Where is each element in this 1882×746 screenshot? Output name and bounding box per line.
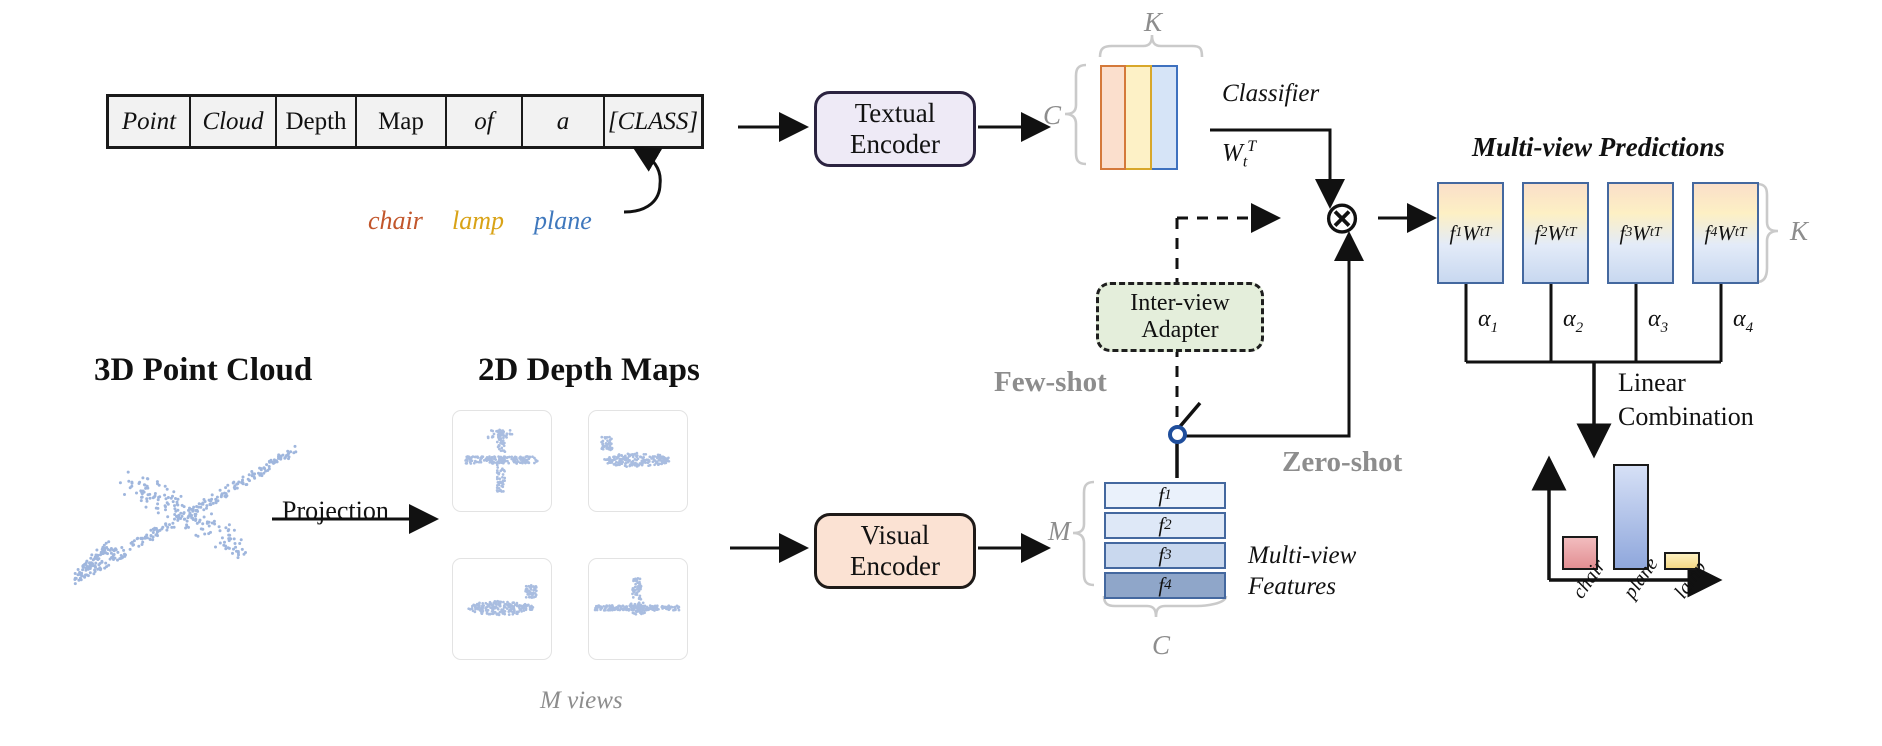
classifier-symbol-sub: t	[1243, 153, 1247, 170]
class-label-chair: chair	[368, 206, 423, 236]
class-label-lamp: lamp	[452, 206, 504, 236]
linear-combination-line2: Combination	[1618, 400, 1754, 434]
alpha-label-1: α1	[1478, 306, 1498, 337]
features-caption-line1: Multi-view	[1248, 540, 1356, 571]
linear-combination-line1: Linear	[1618, 366, 1754, 400]
classifier-column-chair	[1100, 65, 1126, 170]
projection-label: Projection	[282, 496, 389, 526]
visual-encoder-label-line1: Visual	[861, 520, 930, 551]
classifier-brace-k-label: K	[1144, 7, 1162, 38]
alpha-4-sym: α	[1733, 306, 1746, 332]
depth-map-tile-4[interactable]	[588, 558, 688, 660]
prediction-2-w: W	[1547, 221, 1565, 246]
feature-row-f4: f4	[1104, 572, 1226, 599]
feature-row-f1: f1	[1104, 482, 1226, 509]
feature-row-f2: f2	[1104, 512, 1226, 539]
class-label-plane: plane	[534, 206, 592, 236]
alpha-1-sym: α	[1478, 306, 1491, 332]
linear-combination-label: Linear Combination	[1618, 366, 1754, 434]
features-brace-c-label: C	[1152, 630, 1170, 661]
prediction-1-sub: 1	[1455, 225, 1462, 241]
prompt-cell-map: Map	[357, 97, 447, 146]
features-caption-line2: Features	[1248, 571, 1356, 602]
prediction-4-wsup: T	[1739, 225, 1747, 241]
few-shot-label: Few-shot	[994, 366, 1107, 399]
prediction-3-sub: 3	[1625, 225, 1632, 241]
prediction-box-3: f3WtT	[1607, 182, 1674, 284]
prompt-cell-cloud: Cloud	[191, 97, 277, 146]
prediction-4-sub: 4	[1710, 225, 1717, 241]
predictions-brace-k-label: K	[1790, 216, 1808, 247]
depth-map-tile-1[interactable]	[452, 410, 552, 512]
classifier-brace-c-label: C	[1043, 100, 1061, 131]
prompt-cell-class: [CLASS]	[605, 97, 701, 146]
tensor-product-icon: ⊗	[1318, 194, 1366, 242]
visual-encoder-block[interactable]: Visual Encoder	[814, 513, 976, 589]
alpha-label-4: α4	[1733, 306, 1753, 337]
features-brace-m-label: M	[1048, 516, 1071, 547]
prediction-4-w: W	[1717, 221, 1735, 246]
prompt-cell-a: a	[523, 97, 605, 146]
multi-view-predictions-title: Multi-view Predictions	[1472, 132, 1725, 163]
classifier-column-lamp	[1126, 65, 1152, 170]
prediction-box-2: f2WtT	[1522, 182, 1589, 284]
multi-view-features-caption: Multi-view Features	[1248, 540, 1356, 603]
prediction-3-wsup: T	[1654, 225, 1662, 241]
textual-encoder-label-line1: Textual	[855, 98, 936, 129]
feature-row-f3: f3	[1104, 542, 1226, 569]
mode-switch-toggle[interactable]	[1168, 425, 1187, 444]
adapter-label-line2: Adapter	[1141, 317, 1218, 344]
feature-sub-f3: 3	[1164, 547, 1172, 564]
multi-view-predictions-row: f1WtT f2WtT f3WtT f4WtT	[1437, 182, 1759, 284]
prompt-template-table: Point Cloud Depth Map of a [CLASS]	[106, 94, 704, 149]
feature-sub-f1: 1	[1164, 487, 1172, 504]
prompt-cell-depth: Depth	[277, 97, 357, 146]
classifier-weight-matrix	[1100, 65, 1178, 170]
alpha-2-sub: 2	[1576, 320, 1584, 336]
final-prediction-bar-chart	[1540, 455, 1715, 570]
alpha-1-sub: 1	[1491, 320, 1499, 336]
inter-view-adapter-block[interactable]: Inter-view Adapter	[1096, 282, 1264, 352]
alpha-3-sym: α	[1648, 306, 1661, 332]
multi-view-feature-stack: f1 f2 f3 f4	[1104, 482, 1226, 599]
prompt-cell-point: Point	[109, 97, 191, 146]
classifier-title: Classifier	[1222, 80, 1319, 108]
classifier-column-plane	[1152, 65, 1178, 170]
feature-sub-f4: 4	[1164, 577, 1172, 594]
prediction-1-w: W	[1462, 221, 1480, 246]
classifier-symbol-w: W	[1222, 139, 1243, 166]
textual-encoder-block[interactable]: Textual Encoder	[814, 91, 976, 167]
adapter-label-line1: Inter-view	[1130, 290, 1229, 317]
visual-encoder-label-line2: Encoder	[850, 551, 940, 582]
classifier-symbol: WtT	[1222, 138, 1256, 171]
alpha-4-sub: 4	[1746, 320, 1754, 336]
prediction-box-1: f1WtT	[1437, 182, 1504, 284]
alpha-3-sub: 3	[1661, 320, 1669, 336]
feature-sub-f2: 2	[1164, 517, 1172, 534]
alpha-label-2: α2	[1563, 306, 1583, 337]
prediction-2-wsup: T	[1569, 225, 1577, 241]
zero-shot-label: Zero-shot	[1282, 446, 1402, 479]
textual-encoder-label-line2: Encoder	[850, 129, 940, 160]
alpha-2-sym: α	[1563, 306, 1576, 332]
point-cloud-title: 3D Point Cloud	[94, 352, 312, 389]
depth-map-tile-2[interactable]	[588, 410, 688, 512]
alpha-label-3: α3	[1648, 306, 1668, 337]
prediction-1-wsup: T	[1484, 225, 1492, 241]
prompt-cell-of: of	[447, 97, 523, 146]
depth-map-tile-3[interactable]	[452, 558, 552, 660]
classifier-symbol-sup: T	[1247, 138, 1256, 155]
prediction-2-sub: 2	[1540, 225, 1547, 241]
depth-maps-title: 2D Depth Maps	[478, 352, 700, 389]
m-views-caption: M views	[540, 687, 623, 715]
prediction-3-w: W	[1632, 221, 1650, 246]
prediction-box-4: f4WtT	[1692, 182, 1759, 284]
